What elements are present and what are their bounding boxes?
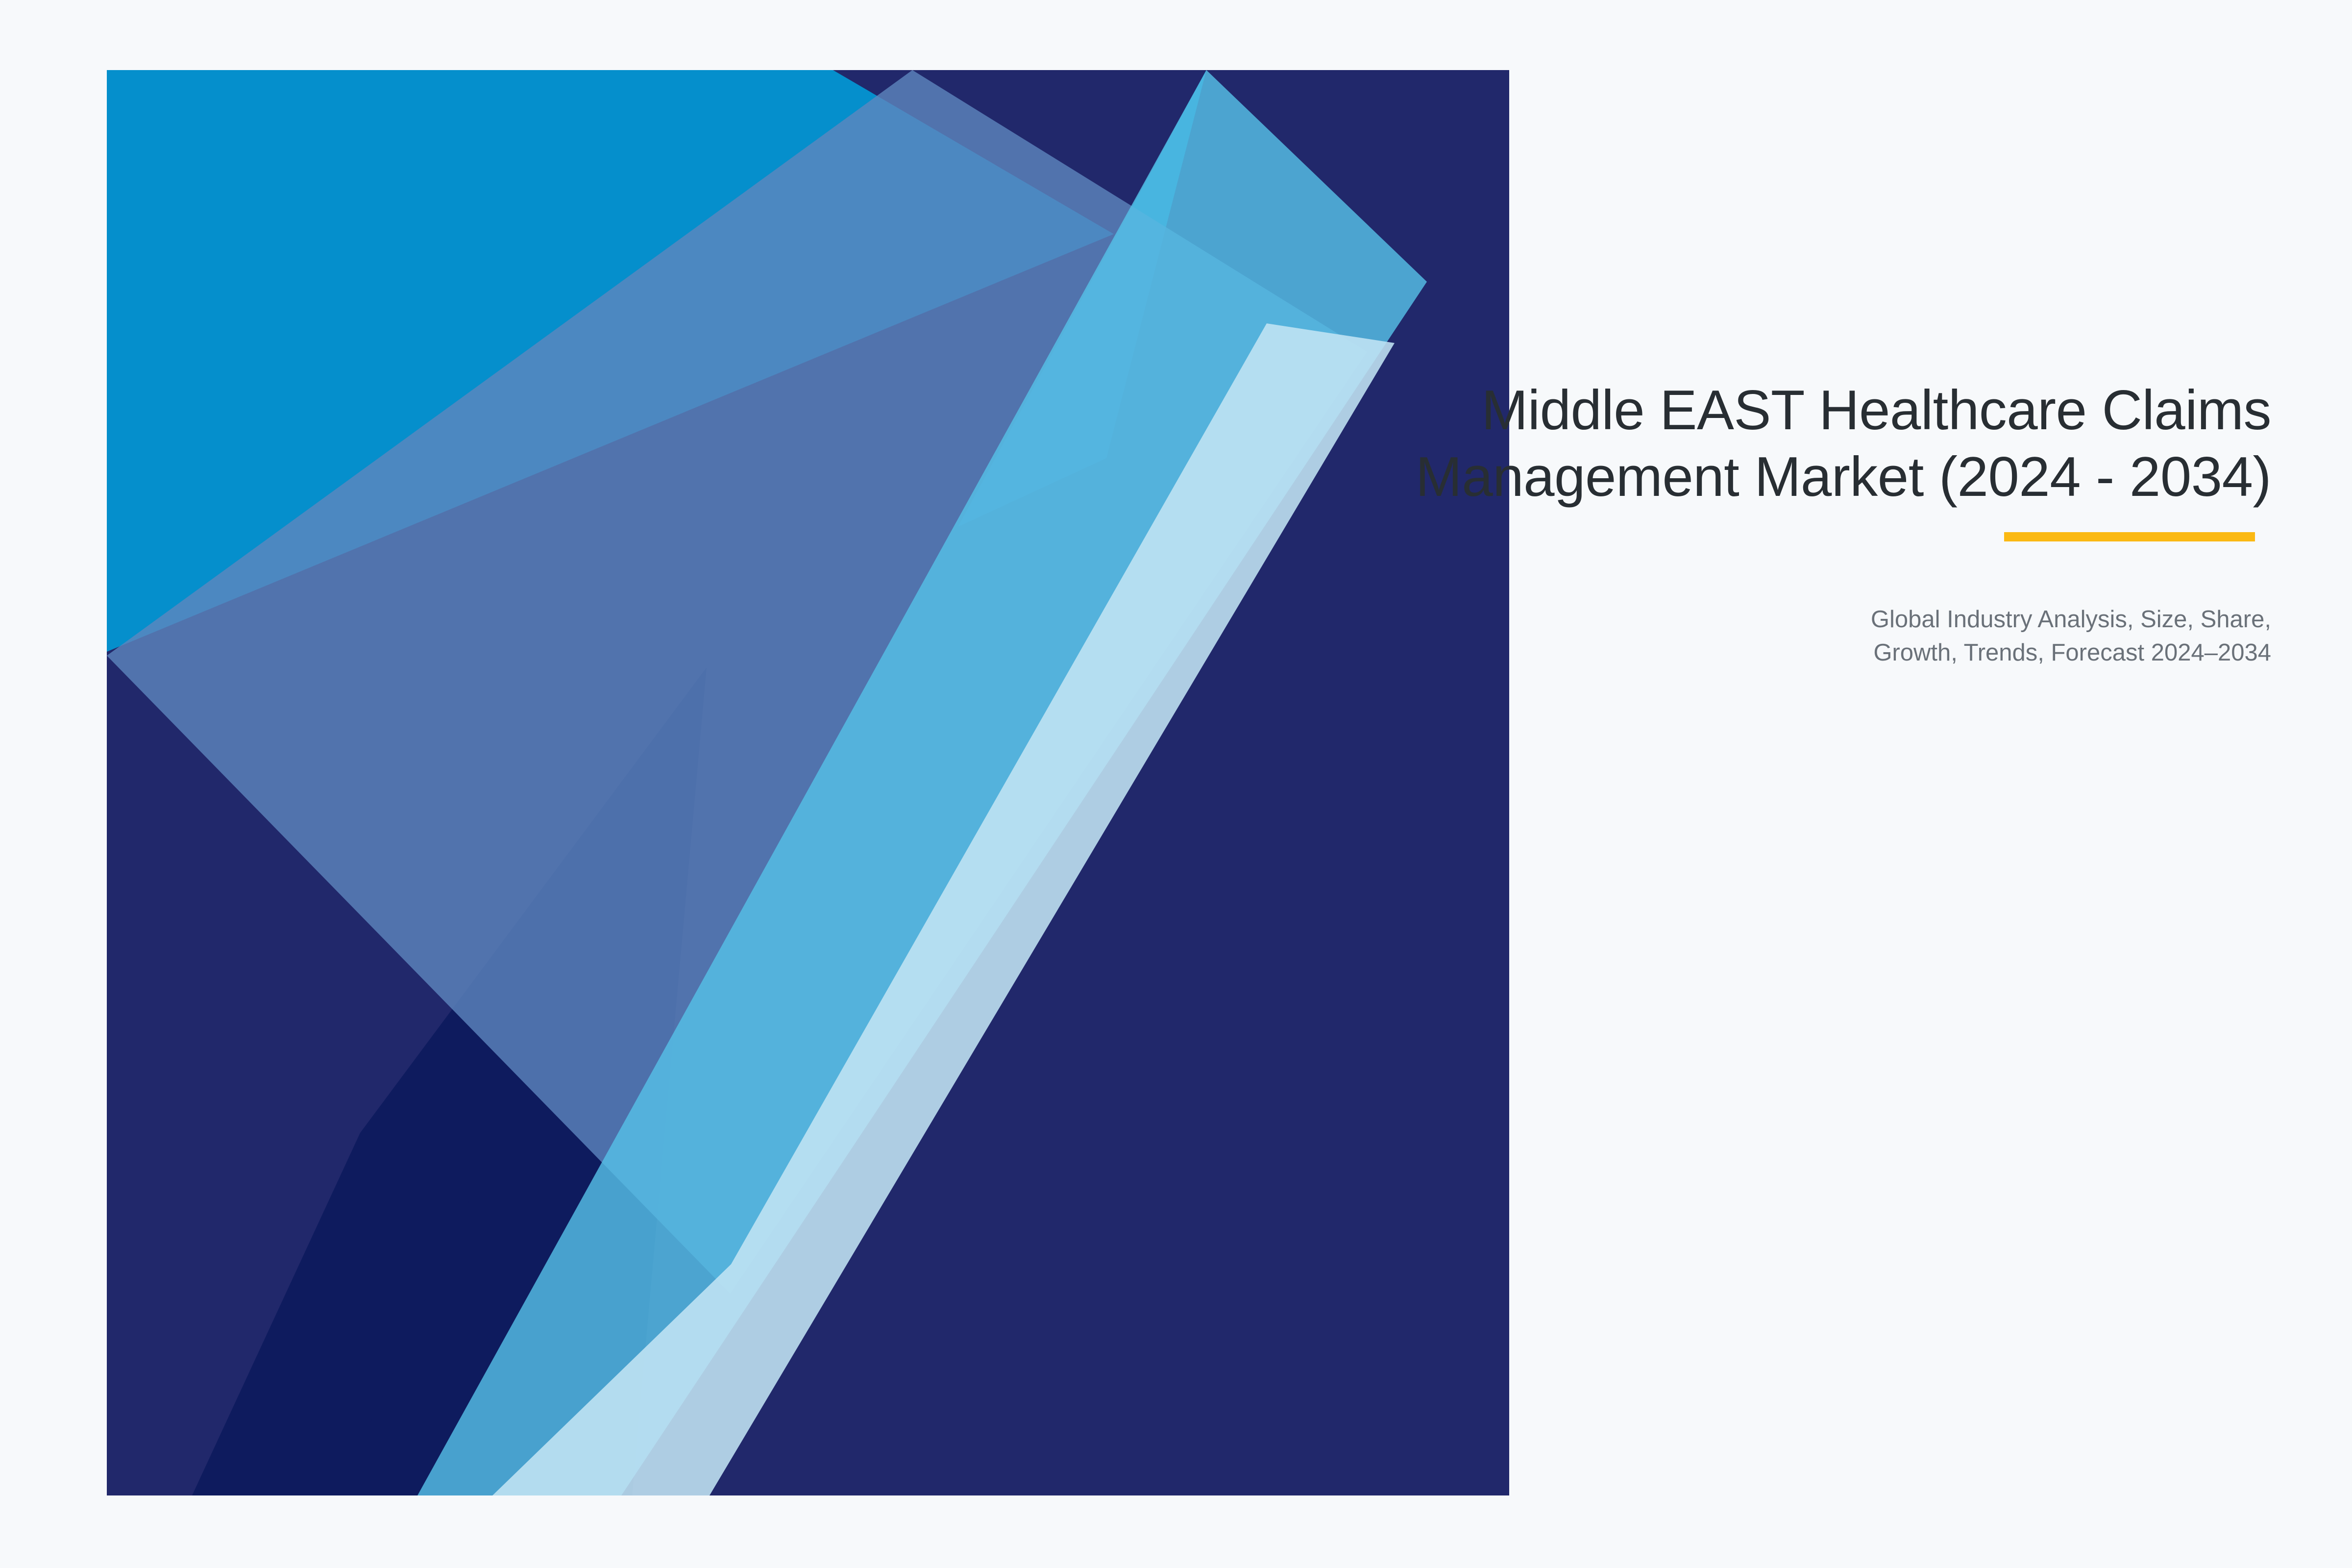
cover-text-block: Middle EAST Healthcare Claims Management… xyxy=(931,377,2271,670)
title-highlight-bar xyxy=(2004,532,2255,541)
deep-navy-bottom-triangle xyxy=(192,667,707,1495)
deep-navy-spike-shape xyxy=(338,667,707,1495)
page-title: Middle EAST Healthcare Claims Management… xyxy=(931,377,2271,510)
cover-artwork xyxy=(0,0,2352,1568)
navy-top-right-triangle xyxy=(833,70,1509,323)
report-cover-page: Middle EAST Healthcare Claims Management… xyxy=(0,0,2352,1568)
slate-translucent-quad xyxy=(107,70,1367,1294)
sky-blue-translucent-band xyxy=(417,70,1427,1495)
cyan-field-shape xyxy=(107,70,1509,1495)
navy-mass-shape xyxy=(107,70,1509,1495)
